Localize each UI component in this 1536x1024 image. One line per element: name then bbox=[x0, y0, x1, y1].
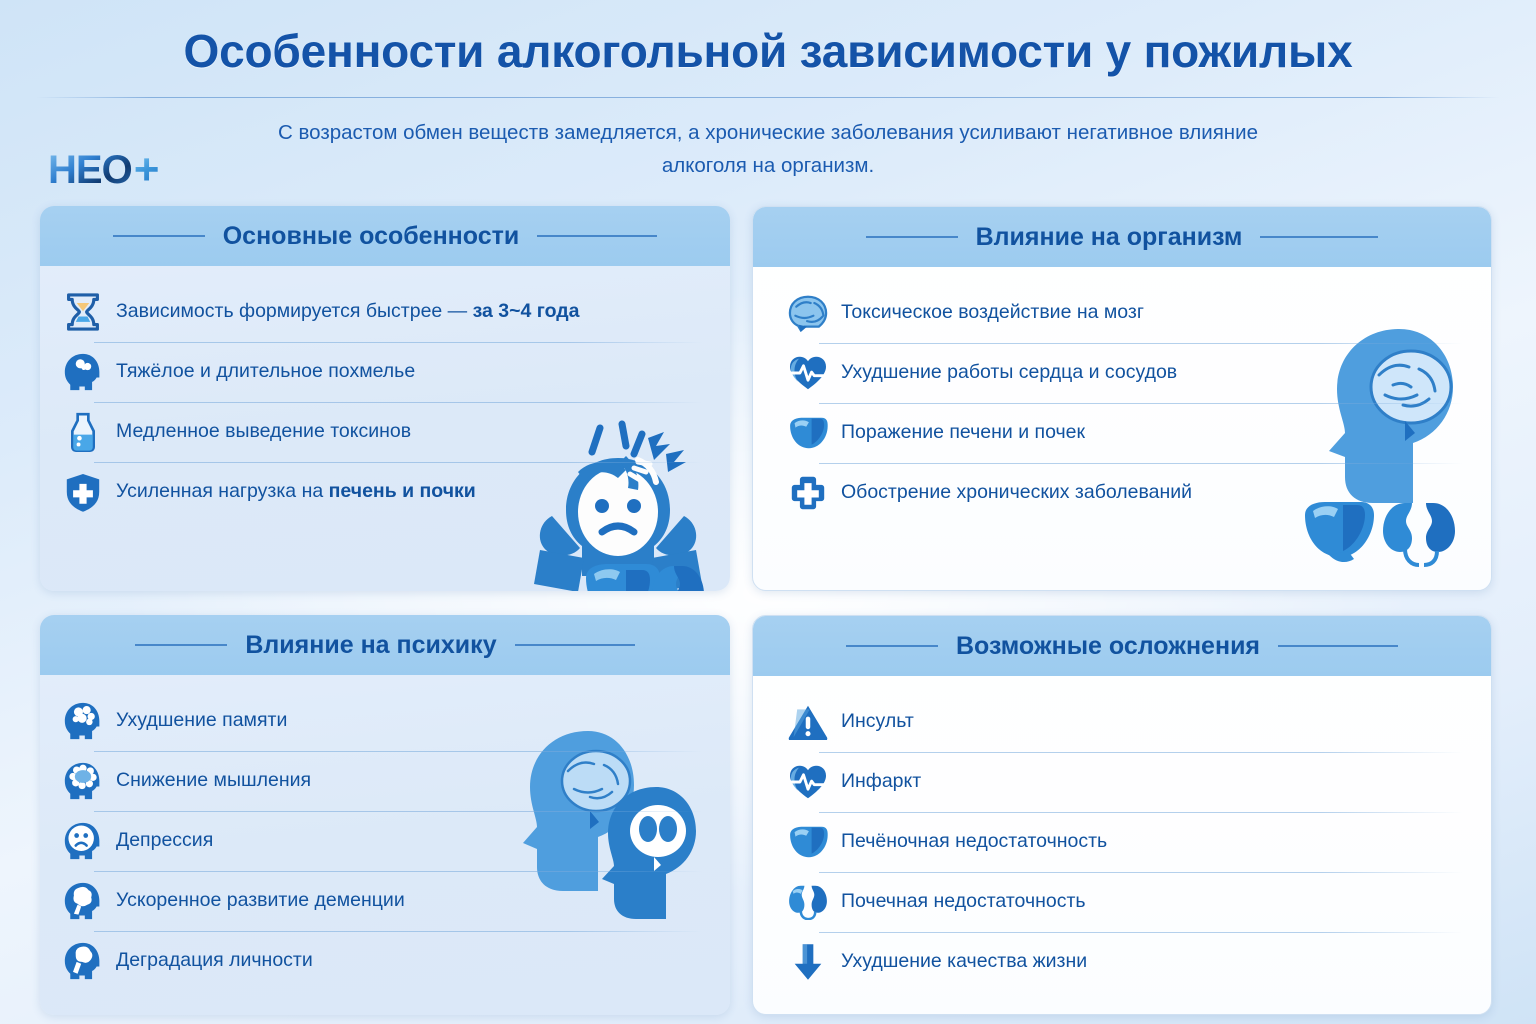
header-rule-right bbox=[1278, 645, 1398, 647]
card-items: Токсическое воздействие на мозг Ухудшени… bbox=[753, 267, 1491, 533]
head-memory-icon bbox=[62, 698, 104, 744]
list-item[interactable]: Ухудшение качества жизни bbox=[787, 932, 1469, 992]
list-item-label: Депрессия bbox=[116, 830, 213, 851]
list-item-label: Зависимость формируется быстрее — за 3~4… bbox=[116, 301, 580, 322]
title-divider bbox=[36, 97, 1500, 98]
warning-triangle-icon bbox=[787, 699, 829, 745]
flask-icon bbox=[62, 409, 104, 455]
list-item[interactable]: Инсульт bbox=[787, 692, 1469, 752]
card-vozmozhnye-oslozhneniya: Возможные осложнения Инсульт bbox=[752, 615, 1492, 1015]
list-item[interactable]: Ухудшение памяти bbox=[62, 691, 708, 751]
list-item-label: Тяжёлое и длительное похмелье bbox=[116, 361, 415, 382]
card-items: Инсульт Инфаркт bbox=[753, 676, 1491, 1002]
card-body: Токсическое воздействие на мозг Ухудшени… bbox=[753, 267, 1491, 590]
list-item[interactable]: Депрессия bbox=[62, 811, 708, 871]
list-item-label: Ухудшение работы сердца и сосудов bbox=[841, 362, 1177, 383]
card-title: Основные особенности bbox=[223, 222, 520, 251]
liver-kidney-illustration bbox=[582, 560, 714, 591]
cards-grid: Основные особенности bbox=[0, 206, 1536, 1024]
list-item-label: Усиленная нагрузка на печень и почки bbox=[116, 481, 476, 502]
cross-medical-icon bbox=[787, 470, 829, 516]
card-header: Влияние на организм bbox=[753, 207, 1491, 267]
card-vliyanie-na-organizm: Влияние на организм bbox=[752, 206, 1492, 591]
page-subtitle: С возрастом обмен веществ замедляется, а… bbox=[268, 116, 1268, 182]
hourglass-icon bbox=[62, 289, 104, 335]
list-item-label: Токсическое воздействие на мозг bbox=[841, 302, 1144, 323]
kidneys-icon bbox=[787, 879, 829, 925]
list-item[interactable]: Ухудшение работы сердца и сосудов bbox=[787, 343, 1469, 403]
card-body: Инсульт Инфаркт bbox=[753, 676, 1491, 1014]
card-header: Возможные осложнения bbox=[753, 616, 1491, 676]
list-item[interactable]: Обострение хронических заболеваний bbox=[787, 463, 1469, 523]
liver-icon bbox=[787, 819, 829, 865]
heart-pulse-icon bbox=[787, 350, 829, 396]
head-thinking-icon bbox=[62, 758, 104, 804]
down-arrow-icon bbox=[787, 939, 829, 985]
card-osnovnye-osobennosti: Основные особенности bbox=[40, 206, 730, 591]
page-title: Особенности алкогольной зависимости у по… bbox=[0, 24, 1536, 78]
list-item-label: Деградация личности bbox=[116, 950, 313, 971]
header-rule-left bbox=[135, 644, 227, 646]
heart-pulse-icon bbox=[787, 759, 829, 805]
card-title: Возможные осложнения bbox=[956, 632, 1260, 661]
header-rule-right bbox=[515, 644, 635, 646]
head-brain-icon bbox=[62, 349, 104, 395]
header-rule-right bbox=[1260, 236, 1378, 238]
page-header: Особенности алкогольной зависимости у по… bbox=[0, 0, 1536, 196]
list-item-label: Инфаркт bbox=[841, 771, 921, 792]
head-sad-face-icon bbox=[62, 818, 104, 864]
shield-cross-icon bbox=[62, 469, 104, 515]
list-item[interactable]: Инфаркт bbox=[787, 752, 1469, 812]
list-item[interactable]: Деградация личности bbox=[62, 931, 708, 991]
brand-logo: НЕО + bbox=[48, 148, 159, 192]
list-item[interactable]: Токсическое воздействие на мозг bbox=[787, 283, 1469, 343]
header-rule-right bbox=[537, 235, 657, 237]
card-header: Основные особенности bbox=[40, 206, 730, 266]
card-title: Влияние на организм bbox=[976, 223, 1243, 252]
logo-plus-icon: + bbox=[134, 148, 160, 192]
card-vliyanie-na-psihiku: Влияние на психику bbox=[40, 615, 730, 1015]
card-items: Зависимость формируется быстрее — за 3~4… bbox=[40, 266, 730, 532]
list-item-label: Почечная недостаточность bbox=[841, 891, 1086, 912]
liver-icon bbox=[787, 410, 829, 456]
list-item-label: Снижение мышления bbox=[116, 770, 311, 791]
list-item[interactable]: Усиленная нагрузка на печень и почки bbox=[62, 462, 708, 522]
list-item-label: Печёночная недостаточность bbox=[841, 831, 1107, 852]
head-degradation-icon bbox=[62, 938, 104, 984]
header-rule-left bbox=[846, 645, 938, 647]
card-title: Влияние на психику bbox=[245, 631, 496, 660]
card-items: Ухудшение памяти bbox=[40, 675, 730, 1001]
head-dementia-icon bbox=[62, 878, 104, 924]
header-rule-left bbox=[113, 235, 205, 237]
list-item-label: Ускоренное развитие деменции bbox=[116, 890, 405, 911]
list-item[interactable]: Медленное выведение токсинов bbox=[62, 402, 708, 462]
card-header: Влияние на психику bbox=[40, 615, 730, 675]
list-item-label: Ухудшение качества жизни bbox=[841, 951, 1087, 972]
header-rule-left bbox=[866, 236, 958, 238]
list-item[interactable]: Ускоренное развитие деменции bbox=[62, 871, 708, 931]
list-item-label: Инсульт bbox=[841, 711, 914, 732]
card-body: Зависимость формируется быстрее — за 3~4… bbox=[40, 266, 730, 591]
list-item-label: Медленное выведение токсинов bbox=[116, 421, 411, 442]
list-item-label: Ухудшение памяти bbox=[116, 710, 287, 731]
list-item[interactable]: Печёночная недостаточность bbox=[787, 812, 1469, 872]
card-body: Ухудшение памяти bbox=[40, 675, 730, 1015]
list-item[interactable]: Почечная недостаточность bbox=[787, 872, 1469, 932]
logo-text: НЕО bbox=[48, 150, 132, 190]
list-item[interactable]: Зависимость формируется быстрее — за 3~4… bbox=[62, 282, 708, 342]
list-item[interactable]: Поражение печени и почек bbox=[787, 403, 1469, 463]
list-item-label: Поражение печени и почек bbox=[841, 422, 1085, 443]
brain-icon bbox=[787, 290, 829, 336]
list-item[interactable]: Снижение мышления bbox=[62, 751, 708, 811]
list-item[interactable]: Тяжёлое и длительное похмелье bbox=[62, 342, 708, 402]
list-item-label: Обострение хронических заболеваний bbox=[841, 482, 1192, 503]
